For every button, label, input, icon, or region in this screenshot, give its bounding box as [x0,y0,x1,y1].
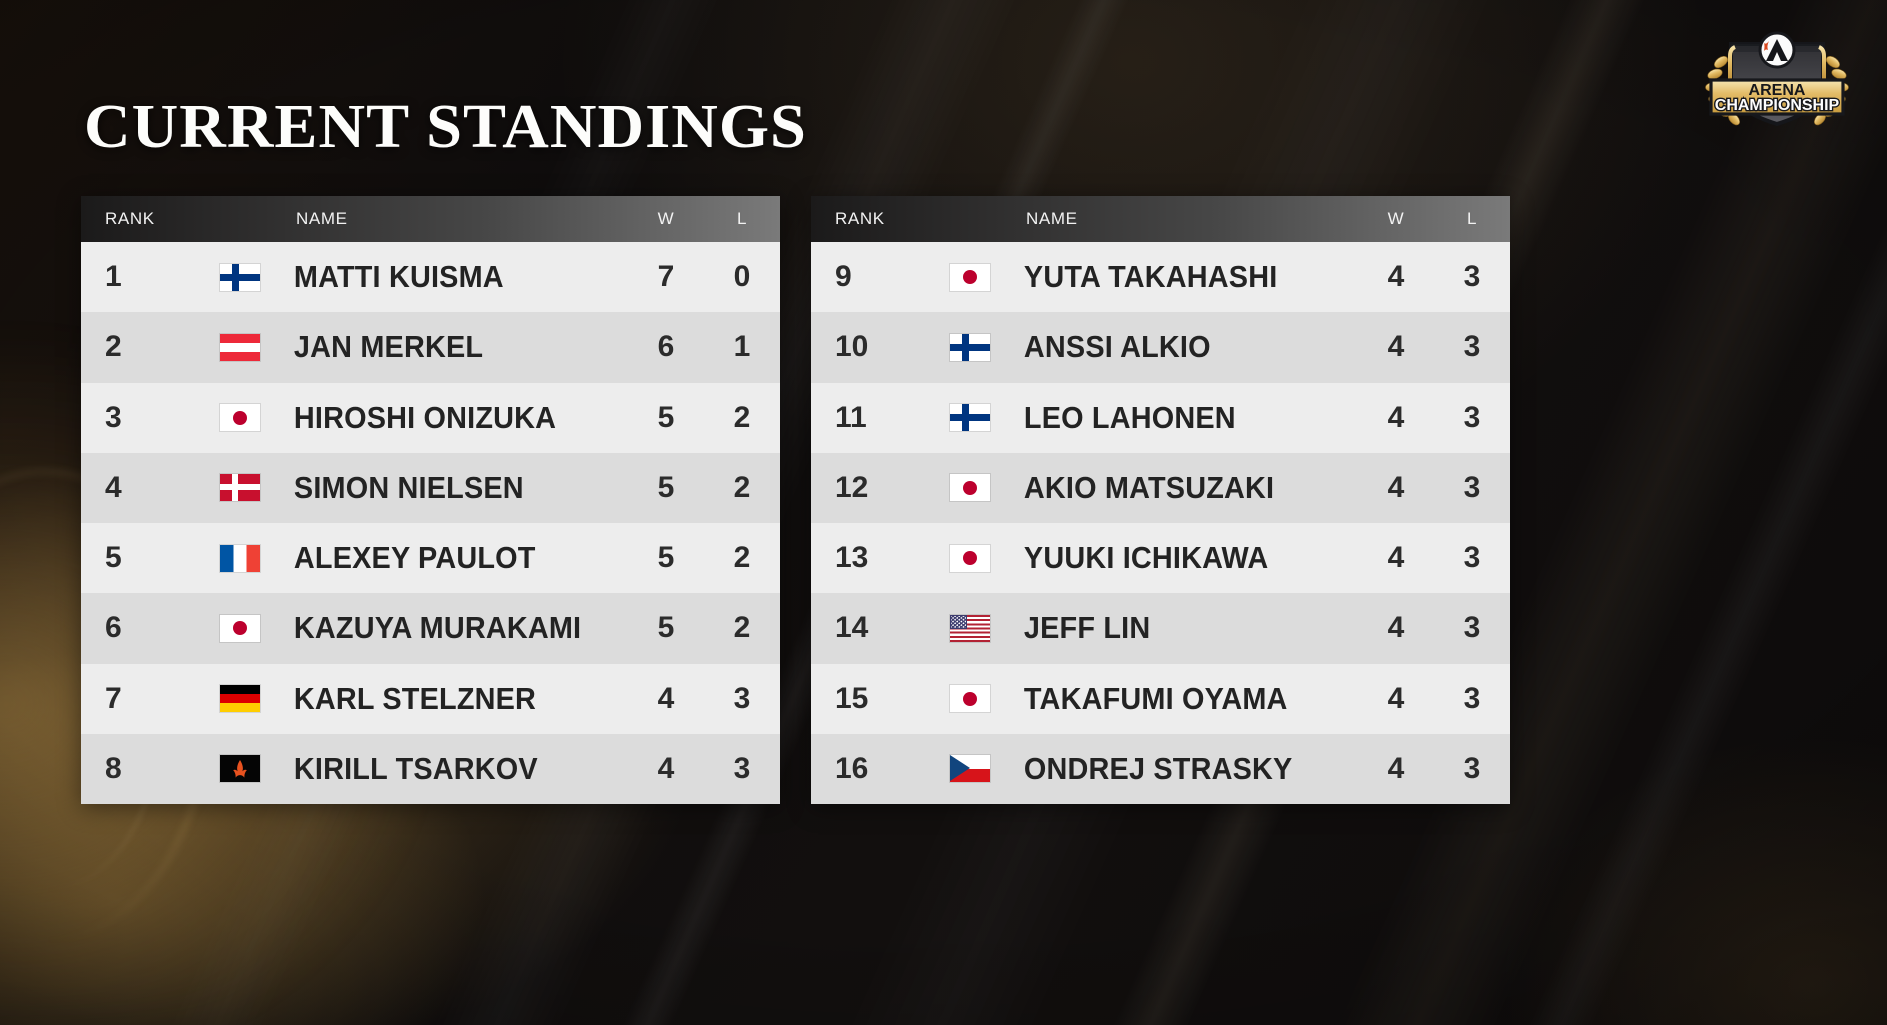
table-row[interactable]: 4SIMON NIELSEN52 [81,453,780,523]
cell-player-name: KARL STELZNER [266,681,603,717]
cell-flag [944,755,996,782]
cell-losses: 3 [1434,541,1510,575]
table-row[interactable]: 15TAKAFUMI OYAMA43 [811,664,1510,734]
cell-flag [944,264,996,291]
cell-wins: 6 [628,330,704,364]
cell-player-name: ANSSI ALKIO [996,329,1333,365]
cell-player-name: YUTA TAKAHASHI [996,259,1333,295]
cell-player-name: AKIO MATSUZAKI [996,470,1333,506]
cell-player-name: MATTI KUISMA [266,259,603,295]
cell-losses: 2 [704,611,780,645]
cell-losses: 3 [1434,682,1510,716]
cell-flag [944,334,996,361]
cell-wins: 5 [628,471,704,505]
table-row[interactable]: 9YUTA TAKAHASHI43 [811,242,1510,312]
logo-line-2: CHAMPIONSHIP [1715,97,1840,114]
cell-player-name: KIRILL TSARKOV [266,751,603,787]
cell-rank: 16 [811,752,944,786]
cell-player-name: SIMON NIELSEN [266,470,603,506]
cell-rank: 5 [81,541,214,575]
table-row[interactable]: 14JEFF LIN43 [811,593,1510,663]
table-header-row: RANK NAME W L [81,196,780,242]
cell-wins: 4 [1358,611,1434,645]
cell-losses: 3 [1434,752,1510,786]
cell-wins: 5 [628,611,704,645]
cell-wins: 4 [1358,471,1434,505]
cell-rank: 14 [811,611,944,645]
cell-player-name: TAKAFUMI OYAMA [996,681,1333,717]
logo-banner: ARENA CHAMPIONSHIP [1711,80,1843,114]
table-row[interactable]: 3HIROSHI ONIZUKA52 [81,383,780,453]
cell-rank: 2 [81,330,214,364]
flag-japan-icon [950,264,990,291]
flag-czechia-icon [950,755,990,782]
table-header-row: RANK NAME W L [811,196,1510,242]
flag-austria-icon [220,334,260,361]
cell-rank: 15 [811,682,944,716]
flag-finland-icon [950,334,990,361]
cell-rank: 13 [811,541,944,575]
flag-usa-icon [950,615,990,642]
column-header-name: NAME [266,209,628,229]
cell-flag [214,474,266,501]
column-header-losses: L [1434,209,1510,229]
cell-player-name: ALEXEY PAULOT [266,540,603,576]
flag-japan-icon [950,545,990,572]
cell-player-name: JEFF LIN [996,610,1333,646]
table-row[interactable]: 11LEO LAHONEN43 [811,383,1510,453]
cell-rank: 11 [811,401,944,435]
cell-losses: 2 [704,471,780,505]
cell-wins: 4 [1358,330,1434,364]
flag-finland-icon [220,264,260,291]
cell-flag [944,685,996,712]
cell-wins: 5 [628,401,704,435]
flag-france-icon [220,545,260,572]
cell-losses: 3 [1434,611,1510,645]
cell-wins: 4 [1358,260,1434,294]
cell-player-name: KAZUYA MURAKAMI [266,610,603,646]
cell-flag [214,334,266,361]
cell-player-name: LEO LAHONEN [996,400,1333,436]
cell-losses: 0 [704,260,780,294]
cell-losses: 3 [1434,330,1510,364]
cell-player-name: ONDREJ STRASKY [996,751,1333,787]
cell-wins: 4 [628,682,704,716]
cell-flag [214,755,266,782]
column-header-name: NAME [996,209,1358,229]
cell-player-name: YUUKI ICHIKAWA [996,540,1333,576]
page-title: CURRENT STANDINGS [84,96,807,158]
cell-wins: 4 [1358,682,1434,716]
flag-japan-icon [220,404,260,431]
cell-player-name: HIROSHI ONIZUKA [266,400,603,436]
cell-wins: 4 [1358,401,1434,435]
cell-flag [944,404,996,431]
cell-losses: 3 [1434,401,1510,435]
standings-table-right: RANK NAME W L 9YUTA TAKAHASHI4310ANSSI A… [811,196,1510,804]
arena-championship-logo: ARENA CHAMPIONSHIP [1689,14,1865,130]
table-row[interactable]: 8KIRILL TSARKOV43 [81,734,780,804]
cell-losses: 3 [1434,260,1510,294]
flag-germany-icon [220,685,260,712]
column-header-wins: W [1358,209,1434,229]
cell-flag [214,685,266,712]
cell-flag [214,404,266,431]
cell-losses: 1 [704,330,780,364]
table-row[interactable]: 16ONDREJ STRASKY43 [811,734,1510,804]
cell-losses: 3 [704,682,780,716]
cell-wins: 5 [628,541,704,575]
table-body: 9YUTA TAKAHASHI4310ANSSI ALKIO4311LEO LA… [811,242,1510,804]
table-row[interactable]: 2JAN MERKEL61 [81,312,780,382]
table-row[interactable]: 10ANSSI ALKIO43 [811,312,1510,382]
cell-rank: 7 [81,682,214,716]
cell-flag [944,545,996,572]
cell-rank: 8 [81,752,214,786]
flag-japan-icon [950,685,990,712]
cell-flag [214,545,266,572]
cell-flag [214,264,266,291]
column-header-losses: L [704,209,780,229]
cell-rank: 10 [811,330,944,364]
standings-table-left: RANK NAME W L 1MATTI KUISMA702JAN MERKEL… [81,196,780,804]
flag-planeswalker-icon [220,755,260,782]
cell-flag [944,474,996,501]
table-row[interactable]: 13YUUKI ICHIKAWA43 [811,523,1510,593]
flag-denmark-icon [220,474,260,501]
flag-japan-icon [950,474,990,501]
column-header-wins: W [628,209,704,229]
cell-losses: 3 [1434,471,1510,505]
table-row[interactable]: 5ALEXEY PAULOT52 [81,523,780,593]
cell-player-name: JAN MERKEL [266,329,603,365]
column-header-rank: RANK [811,209,944,229]
table-body: 1MATTI KUISMA702JAN MERKEL613HIROSHI ONI… [81,242,780,804]
table-row[interactable]: 12AKIO MATSUZAKI43 [811,453,1510,523]
flag-finland-icon [950,404,990,431]
cell-rank: 3 [81,401,214,435]
column-header-rank: RANK [81,209,214,229]
cell-rank: 9 [811,260,944,294]
cell-losses: 2 [704,541,780,575]
table-row[interactable]: 6KAZUYA MURAKAMI52 [81,593,780,663]
cell-losses: 3 [704,752,780,786]
table-row[interactable]: 1MATTI KUISMA70 [81,242,780,312]
cell-rank: 1 [81,260,214,294]
cell-rank: 6 [81,611,214,645]
cell-rank: 12 [811,471,944,505]
cell-flag [214,615,266,642]
cell-wins: 4 [1358,541,1434,575]
cell-wins: 7 [628,260,704,294]
cell-wins: 4 [628,752,704,786]
cell-rank: 4 [81,471,214,505]
flag-japan-icon [220,615,260,642]
cell-wins: 4 [1358,752,1434,786]
table-row[interactable]: 7KARL STELZNER43 [81,664,780,734]
cell-flag [944,615,996,642]
cell-losses: 2 [704,401,780,435]
